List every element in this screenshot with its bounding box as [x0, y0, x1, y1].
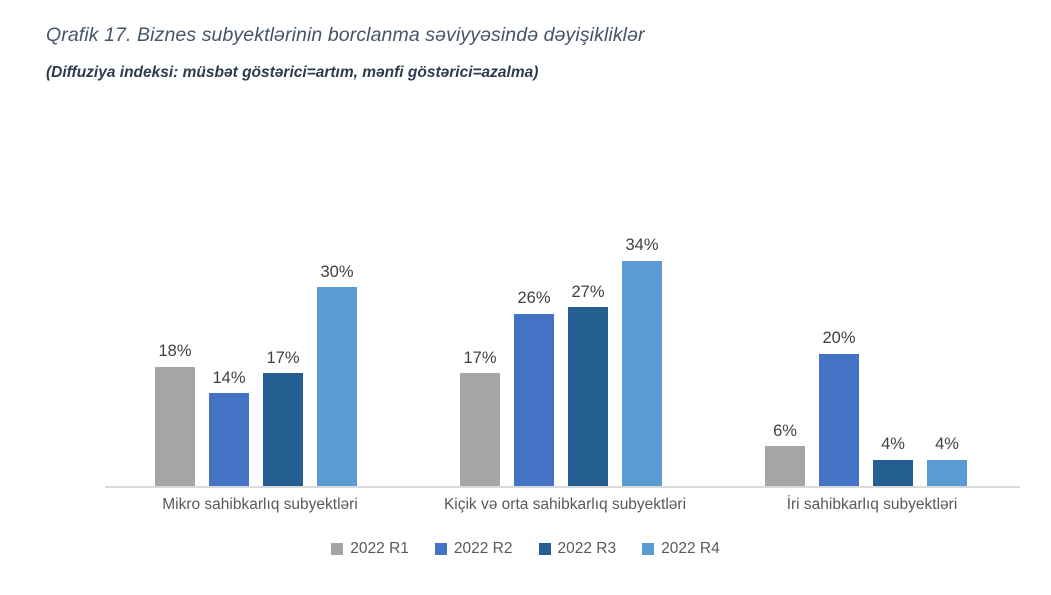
- chart-title-block: Qrafik 17. Biznes subyektlərinin borclan…: [46, 24, 1006, 82]
- bar[interactable]: [209, 393, 249, 486]
- chart-subtitle: (Diffuziya indeksi: müsbət göstərici=art…: [46, 64, 1006, 82]
- page-title: Qrafik 17. Biznes subyektlərinin borclan…: [46, 24, 1006, 47]
- legend-swatch-icon: [539, 543, 551, 555]
- legend-label: 2022 R3: [558, 540, 617, 558]
- x-axis-line: [105, 486, 1020, 488]
- bar-value-label: 20%: [822, 330, 855, 347]
- bar[interactable]: [514, 314, 554, 486]
- chart-legend: 2022 R12022 R22022 R32022 R4: [0, 540, 1051, 558]
- bar-slot: 27%: [568, 284, 608, 486]
- bar-slot: 4%: [873, 436, 913, 486]
- bar-value-label: 34%: [625, 237, 658, 254]
- bar-slot: 17%: [263, 350, 303, 486]
- category-label: İri sahibkarlıq subyektləri: [347, 496, 1051, 514]
- bar[interactable]: [568, 307, 608, 486]
- chart-plot-area: 18%14%17%30%17%26%27%34%6%20%4%4%: [105, 150, 1020, 488]
- bar-slot: 34%: [622, 237, 662, 486]
- bar[interactable]: [317, 287, 357, 486]
- legend-label: 2022 R1: [350, 540, 409, 558]
- bar-slot: 18%: [155, 343, 195, 486]
- bar-slot: 26%: [514, 290, 554, 486]
- bar-value-label: 4%: [881, 436, 905, 453]
- bar-value-label: 4%: [935, 436, 959, 453]
- bar[interactable]: [460, 373, 500, 486]
- bar[interactable]: [263, 373, 303, 486]
- bar-value-label: 17%: [463, 350, 496, 367]
- bar-slot: 17%: [460, 350, 500, 486]
- bar-value-label: 14%: [212, 370, 245, 387]
- bar[interactable]: [155, 367, 195, 486]
- bar[interactable]: [927, 460, 967, 486]
- bar-value-label: 6%: [773, 423, 797, 440]
- bar[interactable]: [819, 354, 859, 486]
- bar-value-label: 27%: [571, 284, 604, 301]
- bar[interactable]: [765, 446, 805, 486]
- legend-label: 2022 R4: [661, 540, 720, 558]
- bar-value-label: 30%: [320, 264, 353, 281]
- bar-slot: 30%: [317, 264, 357, 486]
- legend-swatch-icon: [331, 543, 343, 555]
- bar-slot: 6%: [765, 423, 805, 486]
- legend-item[interactable]: 2022 R2: [435, 540, 513, 558]
- bar-value-label: 17%: [266, 350, 299, 367]
- bar-slot: 14%: [209, 370, 249, 486]
- legend-swatch-icon: [435, 543, 447, 555]
- legend-item[interactable]: 2022 R1: [331, 540, 409, 558]
- legend-item[interactable]: 2022 R4: [642, 540, 720, 558]
- bar-group-bars: 6%20%4%4%: [765, 150, 967, 486]
- legend-label: 2022 R2: [454, 540, 513, 558]
- legend-swatch-icon: [642, 543, 654, 555]
- bar-group-bars: 17%26%27%34%: [460, 150, 662, 486]
- bar-slot: 20%: [819, 330, 859, 486]
- bar[interactable]: [873, 460, 913, 486]
- bar-value-label: 18%: [158, 343, 191, 360]
- bar[interactable]: [622, 261, 662, 486]
- legend-item[interactable]: 2022 R3: [539, 540, 617, 558]
- bar-slot: 4%: [927, 436, 967, 486]
- bar-value-label: 26%: [517, 290, 550, 307]
- bar-group-bars: 18%14%17%30%: [155, 150, 357, 486]
